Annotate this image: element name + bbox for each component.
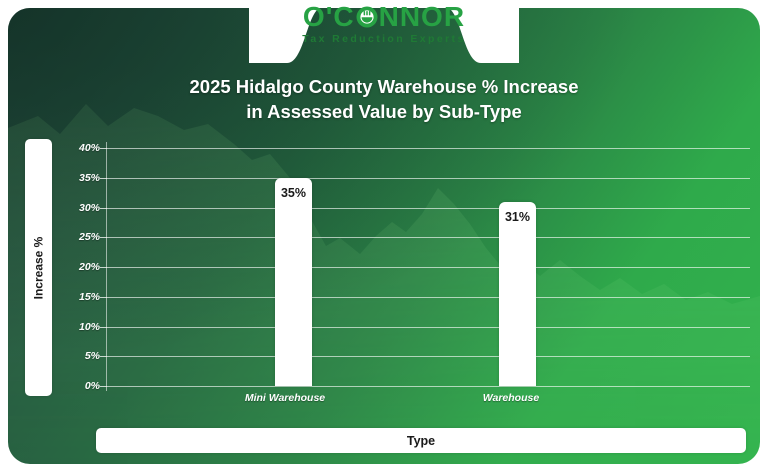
ytick-mark-30 — [100, 208, 107, 209]
x-axis-title: Type — [407, 434, 435, 448]
x-axis-title-box: Type — [96, 428, 746, 453]
ytick-mark-5 — [100, 356, 107, 357]
chart-title-line2: in Assessed Value by Sub-Type — [8, 99, 760, 124]
brand-name-o: O — [303, 2, 326, 32]
plot-area: 35% 31% — [107, 148, 750, 386]
ytick-label-20: 20% — [79, 261, 100, 273]
ytick-label-15: 15% — [79, 291, 100, 303]
brand-logo[interactable]: O'C NNOR Tax Reduction Experts — [254, 2, 514, 45]
chart-title: 2025 Hidalgo County Warehouse % Increase… — [8, 74, 760, 124]
chart-title-line1: 2025 Hidalgo County Warehouse % Increase — [8, 74, 760, 99]
chart-infographic: 2025 Hidalgo County Warehouse % Increase… — [0, 0, 768, 472]
ytick-mark-15 — [100, 297, 107, 298]
gridline-5 — [107, 356, 750, 357]
ytick-mark-40 — [100, 148, 107, 149]
ytick-mark-35 — [100, 178, 107, 179]
ytick-label-35: 35% — [79, 172, 100, 184]
ytick-label-0: 0% — [85, 380, 100, 392]
ytick-label-25: 25% — [79, 231, 100, 243]
bar-warehouse[interactable]: 31% — [499, 202, 536, 387]
gridline-20 — [107, 267, 750, 268]
brand-wordmark: O'C NNOR — [254, 2, 514, 32]
gridline-10 — [107, 327, 750, 328]
gridline-30 — [107, 208, 750, 209]
bar-label-mini-warehouse: 35% — [275, 186, 312, 200]
ytick-mark-10 — [100, 327, 107, 328]
brand-name-c: C — [333, 2, 354, 32]
gridline-15 — [107, 297, 750, 298]
xtick-label-warehouse: Warehouse — [451, 392, 571, 404]
gridline-25 — [107, 237, 750, 238]
bar-label-warehouse: 31% — [499, 210, 536, 224]
gridline-40 — [107, 148, 750, 149]
ytick-mark-20 — [100, 267, 107, 268]
burger-o-icon — [355, 5, 379, 29]
brand-apostrophe: ' — [326, 2, 334, 32]
ytick-label-40: 40% — [79, 142, 100, 154]
ytick-label-10: 10% — [79, 321, 100, 333]
ytick-mark-0 — [100, 386, 107, 387]
ytick-label-30: 30% — [79, 202, 100, 214]
ytick-mark-25 — [100, 237, 107, 238]
brand-tagline: Tax Reduction Experts — [254, 33, 514, 45]
y-axis-tick-labels: 40% 35% 30% 25% 20% 15% 10% 5% 0% — [64, 148, 100, 386]
gridline-35 — [107, 178, 750, 179]
gridline-0 — [107, 386, 750, 387]
bar-mini-warehouse[interactable]: 35% — [275, 178, 312, 386]
xtick-label-mini-warehouse: Mini Warehouse — [225, 392, 345, 404]
chart-card: 2025 Hidalgo County Warehouse % Increase… — [8, 8, 760, 464]
y-axis-title-box: Increase % — [25, 139, 52, 396]
ytick-label-5: 5% — [85, 350, 100, 362]
brand-name-nnor: NNOR — [379, 2, 465, 32]
y-axis-title: Increase % — [32, 236, 46, 299]
